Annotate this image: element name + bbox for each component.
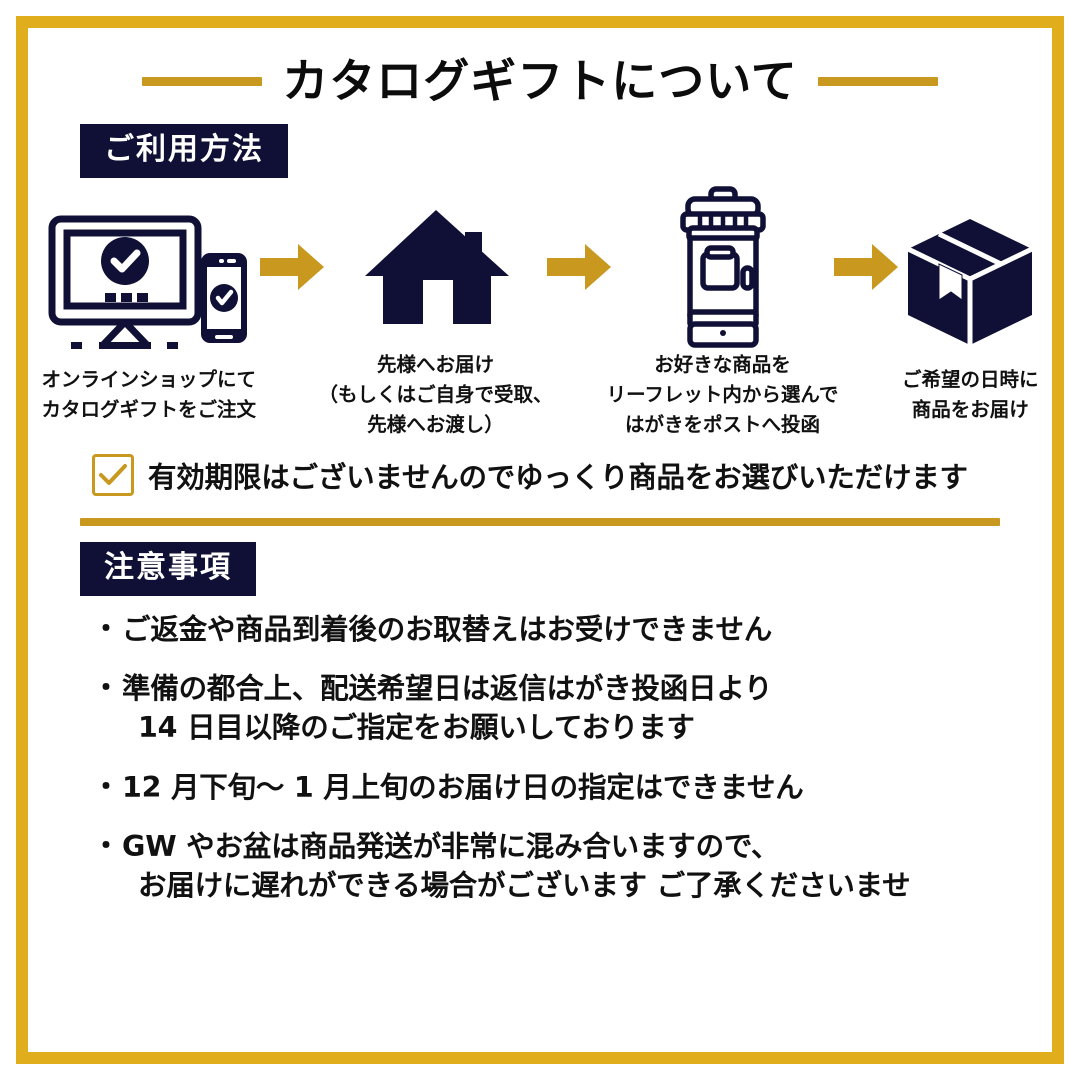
arrow-cell-1 [260,192,324,342]
usage-section-badge: ご利用方法 [80,124,288,178]
notes-badge-wrap: 注意事項 [80,542,1018,596]
shipping-box-icon [906,207,1034,357]
caption-line: お好きな商品を [607,350,839,380]
flow-step-1-caption: オンラインショップにて カタログギフトをご注文 [41,365,256,425]
caption-line: 商品をお届け [902,395,1039,425]
caption-line: オンラインショップにて [41,365,256,395]
flow-step-2-caption: 先様へお届け （もしくはご自身で受取、 先様へお渡し） [319,350,553,441]
note-lines: GW やお盆は商品発送が非常に混み合いますので、 お届けに遅れができる場合がござ… [122,827,910,906]
page-title-row: カタログギフトについて [62,58,1018,104]
note-line: 準備の都合上、配送希望日は返信はがき投函日より [122,669,772,708]
caption-line: リーフレット内から選んで [607,380,839,410]
note-item: ・ 12 月下旬〜 1 月上旬のお届け日の指定はできません [92,768,1018,807]
note-line: 12 月下旬〜 1 月上旬のお届け日の指定はできません [122,768,804,807]
flow-step-3-caption: お好きな商品を リーフレット内から選んで はがきをポストへ投函 [607,350,839,441]
note-line: 14 日目以降のご指定をお願いしております [122,708,772,747]
flow-step-1: オンラインショップにて カタログギフトをご注文 [41,207,256,425]
validity-highlight-row: 有効期限はございませんのでゆっくり商品をお選びいただけます [92,454,1018,496]
note-item: ・ GW やお盆は商品発送が非常に混み合いますので、 お届けに遅れができる場合が… [92,827,1018,906]
page-title: カタログギフトについて [282,58,798,104]
checkbox-check-icon [92,454,134,496]
arrow-cell-3 [834,192,898,342]
caption-line: 先様へお渡し） [319,410,553,440]
arrow-right-icon [260,242,324,292]
note-lines: ご返金や商品到着後のお取替えはお受けできません [122,610,772,649]
arrow-cell-2 [547,192,611,342]
note-bullet: ・ [92,669,120,748]
usage-flow-row: オンラインショップにて カタログギフトをご注文 先様へお届け [62,192,1018,441]
note-lines: 12 月下旬〜 1 月上旬のお届け日の指定はできません [122,768,804,807]
gold-frame-border: カタログギフトについて ご利用方法 [16,16,1064,1064]
notes-section-badge: 注意事項 [80,542,256,596]
usage-badge-wrap: ご利用方法 [80,124,1018,178]
flow-step-3: お好きな商品を リーフレット内から選んで はがきをポストへ投函 [615,192,830,441]
flow-step-2: 先様へお届け （もしくはご自身で受取、 先様へお渡し） [328,192,543,441]
section-divider-rule [80,518,1000,526]
house-icon [361,192,511,342]
note-item: ・ ご返金や商品到着後のお取替えはお受けできません [92,610,1018,649]
japanese-postbox-icon [670,192,776,342]
note-bullet: ・ [92,768,120,807]
note-bullet: ・ [92,827,120,906]
arrow-right-icon [547,242,611,292]
caption-line: （もしくはご自身で受取、 [319,380,553,410]
note-line: GW やお盆は商品発送が非常に混み合いますので、 [122,827,910,866]
caption-line: ご希望の日時に [902,365,1039,395]
flow-step-4-caption: ご希望の日時に 商品をお届け [902,365,1039,425]
arrow-right-icon [834,242,898,292]
caption-line: はがきをポストへ投函 [607,410,839,440]
note-line: お届けに遅れができる場合がございます ご了承くださいませ [122,866,910,905]
note-bullet: ・ [92,610,120,649]
validity-highlight-text: 有効期限はございませんのでゆっくり商品をお選びいただけます [148,455,968,496]
caption-line: 先様へお届け [319,350,553,380]
notes-list: ・ ご返金や商品到着後のお取替えはお受けできません ・ 準備の都合上、配送希望日… [92,610,1018,926]
note-line: ご返金や商品到着後のお取替えはお受けできません [122,610,772,649]
desktop-monitor-smartphone-check-icon [43,207,255,357]
note-item: ・ 準備の都合上、配送希望日は返信はがき投函日より 14 日目以降のご指定をお願… [92,669,1018,748]
caption-line: カタログギフトをご注文 [41,395,256,425]
note-lines: 準備の都合上、配送希望日は返信はがき投函日より 14 日目以降のご指定をお願いし… [122,669,772,748]
title-rule-left-icon [142,77,262,86]
flow-step-4: ご希望の日時に 商品をお届け [902,207,1039,425]
page-root: カタログギフトについて ご利用方法 [0,0,1080,1080]
title-rule-right-icon [818,77,938,86]
